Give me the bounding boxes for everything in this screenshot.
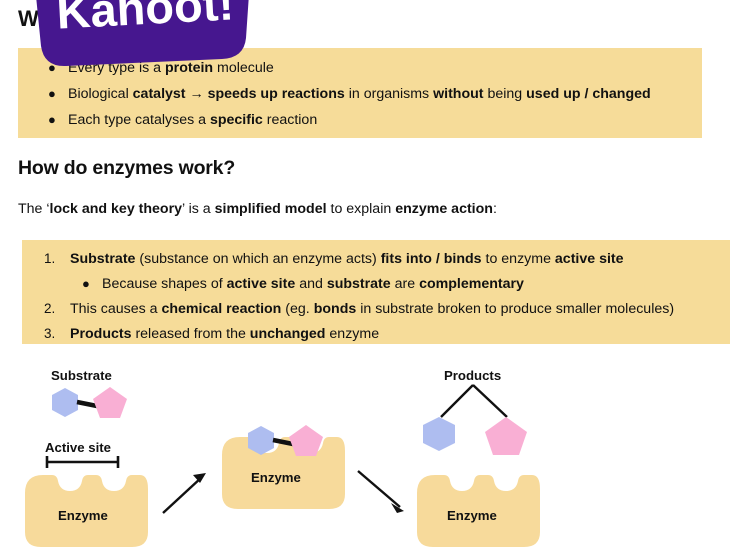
list-item-text: Products released from the unchanged enz… xyxy=(70,325,379,343)
section-intro-text: The ‘lock and key theory’ is a simplifie… xyxy=(18,201,497,217)
list-item: 2. This causes a chemical reaction (eg. … xyxy=(44,300,726,318)
arrow-shaft xyxy=(358,471,400,507)
enzyme-body-shape-left xyxy=(25,475,148,547)
list-item-text: Biological catalyst → speeds up reaction… xyxy=(68,85,651,103)
product-branch-line-left xyxy=(441,385,473,417)
list-marker: 3. xyxy=(44,325,70,343)
pentagon-shape-icon xyxy=(485,417,527,455)
list-marker: 1. xyxy=(44,250,70,268)
lock-and-key-steps-list: 1. Substrate (substance on which an enzy… xyxy=(44,250,726,343)
list-item-text: This causes a chemical reaction (eg. bon… xyxy=(70,300,674,318)
enzyme-body-shape-middle xyxy=(222,437,345,509)
bond-line xyxy=(77,402,97,406)
section-heading: How do enzymes work? xyxy=(18,157,235,180)
arrow-head-icon xyxy=(193,473,206,483)
diagram-stage-products xyxy=(417,385,540,547)
arrow-to-bound-state xyxy=(163,473,206,513)
bullet-icon: ● xyxy=(82,275,102,293)
arrow-shaft xyxy=(163,477,202,513)
hexagon-shape-icon xyxy=(423,417,455,451)
list-item-text: Each type catalyses a specific reaction xyxy=(68,111,317,129)
list-marker: 2. xyxy=(44,300,70,318)
list-item: ● Because shapes of active site and subs… xyxy=(44,275,726,293)
label-products: Products xyxy=(444,368,501,383)
enzyme-action-diagram: Substrate Active site Products Enzyme En… xyxy=(0,355,750,554)
hexagon-shape-icon xyxy=(52,388,78,417)
pentagon-shape-icon xyxy=(93,387,127,418)
diagram-stage-bound xyxy=(222,425,345,509)
list-item: 3. Products released from the unchanged … xyxy=(44,325,726,343)
kahoot-logo: Kahoot! xyxy=(24,0,254,76)
label-active-site: Active site xyxy=(45,440,111,455)
note-box-lock-and-key-steps: 1. Substrate (substance on which an enzy… xyxy=(22,240,730,344)
list-item-text: Substrate (substance on which an enzyme … xyxy=(70,250,624,268)
list-item-text: Because shapes of active site and substr… xyxy=(102,275,524,293)
list-item: 1. Substrate (substance on which an enzy… xyxy=(44,250,726,268)
arrow-to-products-state xyxy=(358,471,404,513)
bullet-icon: ● xyxy=(48,111,68,129)
label-substrate: Substrate xyxy=(51,368,112,383)
enzyme-body-shape-right xyxy=(417,475,540,547)
product-branch-line-right xyxy=(473,385,507,417)
diagram-stage-substrate xyxy=(25,387,148,547)
list-item: ● Biological catalyst → speeds up reacti… xyxy=(48,85,696,103)
kahoot-logo-svg: Kahoot! xyxy=(24,0,254,76)
bullet-icon: ● xyxy=(48,85,68,103)
enzyme-diagram-svg xyxy=(0,355,750,554)
list-item: ● Each type catalyses a specific reactio… xyxy=(48,111,696,129)
